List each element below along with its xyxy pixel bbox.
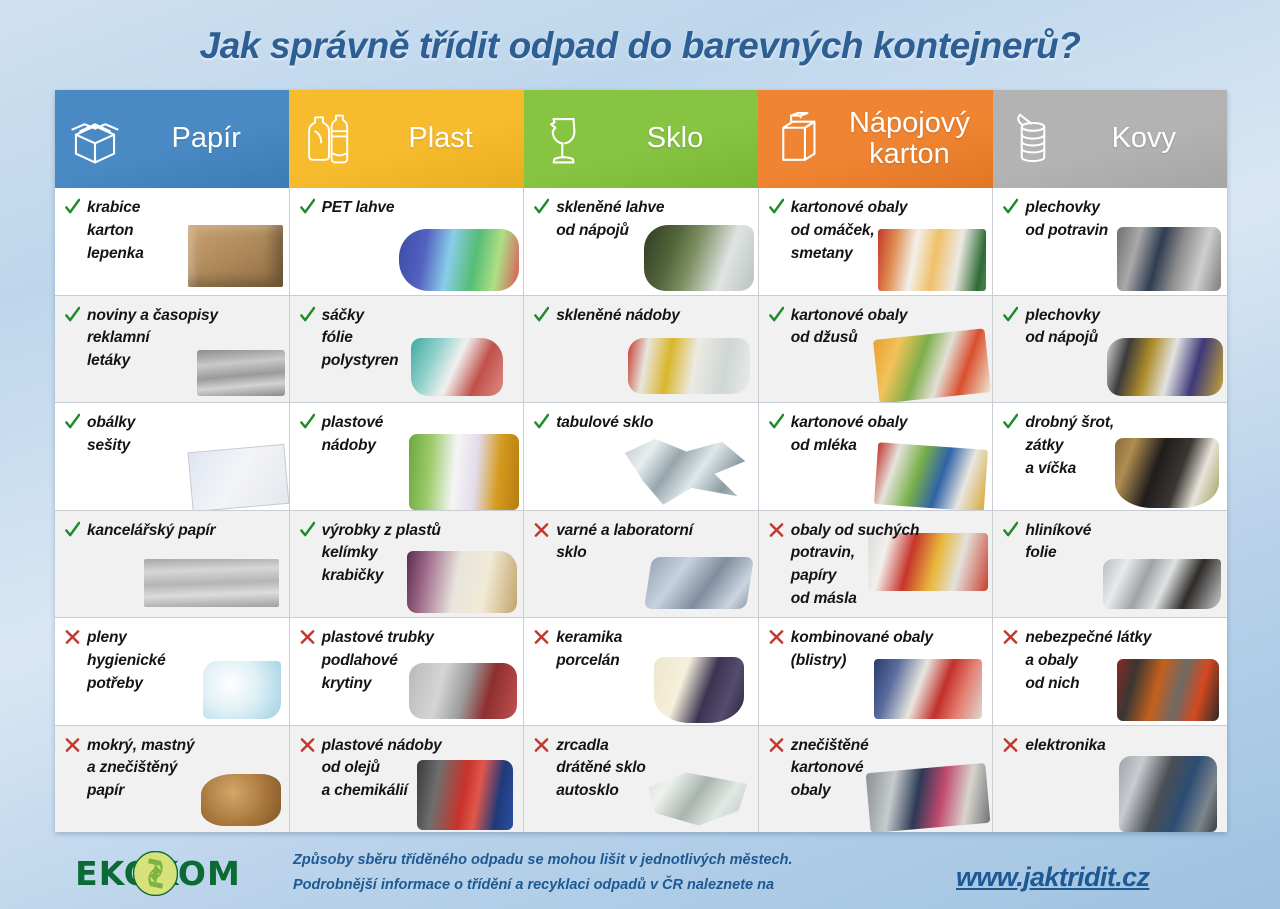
item-label-line: kelímky [322,542,441,565]
item-label-line: nádoby [322,435,384,458]
cross-icon [769,521,784,539]
cell-kovy-3: hliníkovéfolie [993,511,1227,619]
cross-icon [65,736,80,754]
cell-plast-2: plastovénádoby [290,403,524,511]
item-label-line: zátky [1025,435,1114,458]
sorting-table: PapírPlastSkloNápojový kartonKovy krabic… [55,90,1227,832]
check-icon [65,413,80,431]
check-icon [769,198,784,216]
item-label-line: od nápojů [556,220,664,243]
item-label-line: skleněné nádoby [556,305,680,328]
item-label-line: zrcadla [556,735,646,758]
item-label-line: potravin, [791,542,920,565]
milk-carton-icon [772,108,824,170]
item-label-group: varné a laboratornísklo [556,520,693,566]
electronics-photo [1119,756,1217,832]
cross-icon [300,736,315,754]
footer: EKO KOM Způsoby sběru tříděného odpadu s… [0,838,1280,909]
column-header-papir: Papír [55,90,289,188]
item-label-line: krabice [87,197,144,220]
item-label-line: karton [87,220,144,243]
item-label-line: fólie [322,327,399,350]
column-kovy: plechovkyod potravinplechovkyod nápojůdr… [993,188,1227,832]
item-label-line: krytiny [322,673,434,696]
cross-icon [534,736,549,754]
item-label-group: kartonové obalyod mléka [791,412,908,458]
tin-can-icon [1007,108,1059,170]
column-title-plast: Plast [365,123,523,154]
item-label-line: od másla [791,588,920,611]
cell-papir-0: krabicekartonlepenka [55,188,289,296]
check-icon [1003,413,1018,431]
item-label-line: porcelán [556,650,622,673]
open-box-icon [69,108,121,170]
footer-note: Způsoby sběru tříděného odpadu se mohou … [293,848,993,898]
item-label-line: letáky [87,350,218,373]
item-label-group: drobný šrot,zátkya víčka [1025,412,1114,481]
item-label-line: od olejů [322,757,442,780]
item-label-group: výrobky z plastůkelímkykrabičky [322,520,441,589]
item-label-group: plastové trubkypodlahovékrytiny [322,627,434,696]
cell-sklo-1: skleněné nádoby [524,296,758,404]
item-label-group: kartonové obalyod omáček,smetany [791,197,908,266]
item-label-line: lepenka [87,243,144,266]
broken-pane-photo [620,438,748,508]
office-paper-stack-photo [144,559,279,607]
cell-papir-3: kancelářský papír [55,511,289,619]
item-label-line: a znečištěný [87,757,194,780]
item-label-line: plastové [322,412,384,435]
cross-icon [769,736,784,754]
item-label-line: plastové nádoby [322,735,442,758]
item-label-line: podlahové [322,650,434,673]
item-label-line: noviny a časopisy [87,305,218,328]
check-icon [1003,521,1018,539]
item-label-group: plenyhygienicképotřeby [87,627,166,696]
item-label-line: (blistry) [791,650,933,673]
item-label-line: hygienické [87,650,166,673]
check-icon [65,198,80,216]
item-label-line: potřeby [87,673,166,696]
item-label-line: od nápojů [1025,327,1099,350]
cross-icon [300,628,315,646]
item-label-group: kombinované obaly(blistry) [791,627,933,673]
item-label-line: kancelářský papír [87,520,215,543]
cell-sklo-4: keramikaporcelán [524,618,758,726]
item-label-line: sešity [87,435,135,458]
item-label-line: papír [87,780,194,803]
table-body: krabicekartonlepenkanoviny a časopisyrek… [55,188,1227,832]
item-label-line: kartonové obaly [791,197,908,220]
item-label-line: krabičky [322,565,441,588]
item-label-group: kartonové obalyod džusů [791,305,908,351]
item-label-group: krabicekartonlepenka [87,197,144,266]
item-label-line: znečištěné [791,735,869,758]
cell-kovy-5: elektronika [993,726,1227,833]
item-label-group: plastovénádoby [322,412,384,458]
check-icon [300,198,315,216]
cell-papir-2: obálkysešity [55,403,289,511]
cell-papir-5: mokrý, mastnýa znečištěnýpapír [55,726,289,833]
item-label-line: obaly [791,780,869,803]
website-link[interactable]: www.jaktridit.cz [956,862,1149,893]
item-label-group: znečištěnékartonovéobaly [791,735,869,804]
item-label-line: smetany [791,243,908,266]
cell-kovy-0: plechovkyod potravin [993,188,1227,296]
check-icon [1003,306,1018,324]
item-label-group: nebezpečné látkya obalyod nich [1025,627,1151,696]
check-icon [534,413,549,431]
cross-icon [1003,628,1018,646]
cell-plast-0: PET lahve [290,188,524,296]
cross-icon [534,628,549,646]
column-title-napojovy-karton: Nápojový karton [834,108,992,171]
column-papir: krabicekartonlepenkanoviny a časopisyrek… [55,188,290,832]
cell-kovy-4: nebezpečné látkya obalyod nich [993,618,1227,726]
item-label-line: plechovky [1025,305,1099,328]
check-icon [1003,198,1018,216]
cell-sklo-2: tabulové sklo [524,403,758,511]
item-label-line: sáčky [322,305,399,328]
check-icon [65,306,80,324]
item-label-group: mokrý, mastnýa znečištěnýpapír [87,735,194,804]
column-header-sklo: Sklo [524,90,758,188]
cell-napojovy-karton-4: kombinované obaly(blistry) [759,618,993,726]
item-label-group: skleněné nádoby [556,305,680,328]
pet-bottles-photo [399,229,519,291]
item-label-line: folie [1025,542,1091,565]
item-label-line: od omáček, [791,220,908,243]
item-label-line: výrobky z plastů [322,520,441,543]
item-label-line: drobný šrot, [1025,412,1114,435]
item-label-line: hliníkové [1025,520,1091,543]
item-label-line: od potravin [1025,220,1108,243]
broken-glass-icon [538,108,590,170]
cell-plast-4: plastové trubkypodlahovékrytiny [290,618,524,726]
column-header-kovy: Kovy [993,90,1227,188]
item-label-group: noviny a časopisyreklamníletáky [87,305,218,374]
item-label-line: varné a laboratorní [556,520,693,543]
column-plast: PET lahvesáčkyfóliepolystyrenplastovénád… [290,188,525,832]
item-label-line: pleny [87,627,166,650]
column-napojovy-karton: kartonové obalyod omáček,smetanykartonov… [759,188,994,832]
item-label-group: plechovkyod potravin [1025,197,1108,243]
item-label-line: mokrý, mastný [87,735,194,758]
cell-sklo-3: varné a laboratornísklo [524,511,758,619]
cross-icon [534,521,549,539]
column-title-sklo: Sklo [600,123,758,154]
cell-napojovy-karton-0: kartonové obalyod omáček,smetany [759,188,993,296]
item-label-group: keramikaporcelán [556,627,622,673]
check-icon [300,521,315,539]
item-label-line: a víčka [1025,458,1114,481]
item-label-line: autosklo [556,780,646,803]
item-label-line: tabulové sklo [556,412,653,435]
item-label-line: plastové trubky [322,627,434,650]
item-label-line: skleněné lahve [556,197,664,220]
footer-note-line-1: Způsoby sběru tříděného odpadu se mohou … [293,848,993,873]
cell-napojovy-karton-3: obaly od suchýchpotravin,papíryod másla [759,511,993,619]
item-label-group: kancelářský papír [87,520,215,543]
check-icon [534,306,549,324]
item-label-line: drátěné sklo [556,757,646,780]
aluminium-foil-photo [1103,559,1221,609]
item-label-line: nebezpečné látky [1025,627,1151,650]
cell-kovy-1: plechovkyod nápojů [993,296,1227,404]
column-header-plast: Plast [289,90,523,188]
cross-icon [769,628,784,646]
item-label-line: a obaly [1025,650,1151,673]
cell-napojovy-karton-2: kartonové obalyod mléka [759,403,993,511]
item-label-line: obálky [87,412,135,435]
check-icon [300,306,315,324]
cross-icon [65,628,80,646]
column-title-kovy: Kovy [1069,123,1227,154]
item-label-line: sklo [556,542,693,565]
item-label-group: sáčkyfóliepolystyren [322,305,399,374]
cell-sklo-0: skleněné lahveod nápojů [524,188,758,296]
column-title-papir: Papír [131,123,289,154]
cell-plast-5: plastové nádobyod olejůa chemikálií [290,726,524,833]
check-icon [769,413,784,431]
item-label-line: od mléka [791,435,908,458]
column-sklo: skleněné lahveod nápojůskleněné nádobyta… [524,188,759,832]
cell-kovy-2: drobný šrot,zátkya víčka [993,403,1227,511]
item-label-group: plechovkyod nápojů [1025,305,1099,351]
check-icon [769,306,784,324]
check-icon [300,413,315,431]
item-label-group: tabulové sklo [556,412,653,435]
glass-jars-photo [628,338,750,394]
item-label-line: papíry [791,565,920,588]
cell-papir-1: noviny a časopisyreklamníletáky [55,296,289,404]
item-label-line: polystyren [322,350,399,373]
check-icon [65,521,80,539]
item-label-line: od nich [1025,673,1151,696]
item-label-group: obálkysešity [87,412,135,458]
item-label-line: plechovky [1025,197,1108,220]
check-icon [534,198,549,216]
item-label-line: obaly od suchých [791,520,920,543]
cross-icon [1003,736,1018,754]
cell-napojovy-karton-5: znečištěnékartonovéobaly [759,726,993,833]
item-label-group: zrcadladrátěné skloautosklo [556,735,646,804]
column-header-napojovy-karton: Nápojový karton [758,90,992,188]
item-label-group: plastové nádobyod olejůa chemikálií [322,735,442,804]
item-label-line: a chemikálií [322,780,442,803]
item-label-line: kartonové obaly [791,305,908,328]
recycling-arrow-icon [133,851,178,896]
cell-papir-4: plenyhygienicképotřeby [55,618,289,726]
cell-plast-3: výrobky z plastůkelímkykrabičky [290,511,524,619]
footer-note-line-2: Podrobnější informace o třídění a recykl… [293,873,993,898]
item-label-line: kartonové [791,757,869,780]
item-label-group: PET lahve [322,197,395,220]
item-label-line: elektronika [1025,735,1105,758]
item-label-group: skleněné lahveod nápojů [556,197,664,243]
item-label-line: kartonové obaly [791,412,908,435]
cell-napojovy-karton-1: kartonové obalyod džusů [759,296,993,404]
cell-plast-1: sáčkyfóliepolystyren [290,296,524,404]
item-label-group: elektronika [1025,735,1105,758]
item-label-group: hliníkovéfolie [1025,520,1091,566]
item-label-line: kombinované obaly [791,627,933,650]
ekokom-logo: EKO KOM [40,850,276,896]
item-label-line: reklamní [87,327,218,350]
table-header-row: PapírPlastSkloNápojový kartonKovy [55,90,1227,188]
page-title: Jak správně třídit odpad do barevných ko… [0,18,1280,74]
cell-sklo-5: zrcadladrátěné skloautosklo [524,726,758,833]
item-label-group: obaly od suchýchpotravin,papíryod másla [791,520,920,612]
item-label-line: keramika [556,627,622,650]
bottles-icon [303,108,355,170]
item-label-line: PET lahve [322,197,395,220]
item-label-line: od džusů [791,327,908,350]
